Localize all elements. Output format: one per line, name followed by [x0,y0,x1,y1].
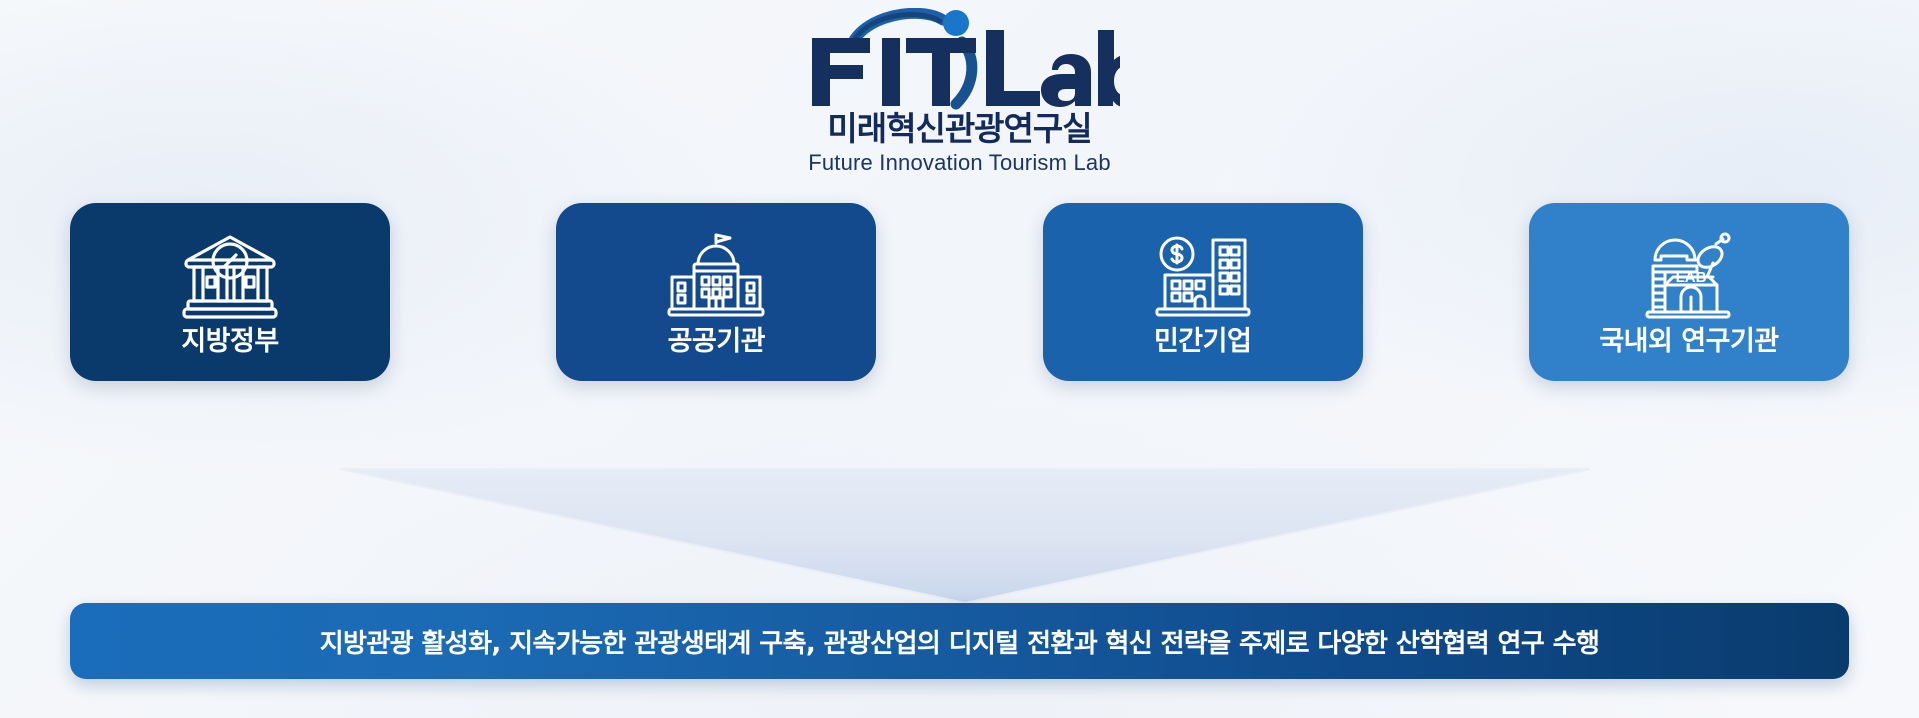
fitlab-logo: 미래혁신관광연구실 Future Innovation Tourism Lab [0,8,1919,174]
observatory-lab-building-icon: LAB [1637,230,1741,322]
logo-wordmark [800,8,1120,114]
summary-banner: 지방관광 활성화, 지속가능한 관광생태계 구축, 관광산업의 디지털 전환과 … [70,603,1849,679]
card-label: 공공기관 [668,328,765,355]
svg-text:LAB: LAB [1676,269,1707,286]
summary-banner-text: 지방관광 활성화, 지속가능한 관광생태계 구축, 관광산업의 디지털 전환과 … [320,623,1600,660]
card-local-government[interactable]: 지방정부 [70,203,390,381]
card-research-institution[interactable]: LAB 국내외 연구기관 [1529,203,1849,381]
card-label: 민간기업 [1154,328,1251,355]
card-label: 국내외 연구기관 [1599,328,1778,355]
partner-card-row: 지방정부 [70,203,1849,381]
card-public-institution[interactable]: 공공기관 [556,203,876,381]
government-bank-clock-icon [178,230,282,322]
logo-english-name: Future Innovation Tourism Lab [808,152,1111,174]
infographic-canvas: 미래혁신관광연구실 Future Innovation Tourism Lab [0,0,1919,718]
bank-dollar-building-icon [1151,230,1255,322]
card-private-enterprise[interactable]: 민간기업 [1043,203,1363,381]
capitol-dome-building-icon [664,230,768,322]
card-label: 지방정부 [181,328,278,355]
logo-korean-name: 미래혁신관광연구실 [827,112,1091,145]
converging-funnel-arrow [0,455,1919,605]
